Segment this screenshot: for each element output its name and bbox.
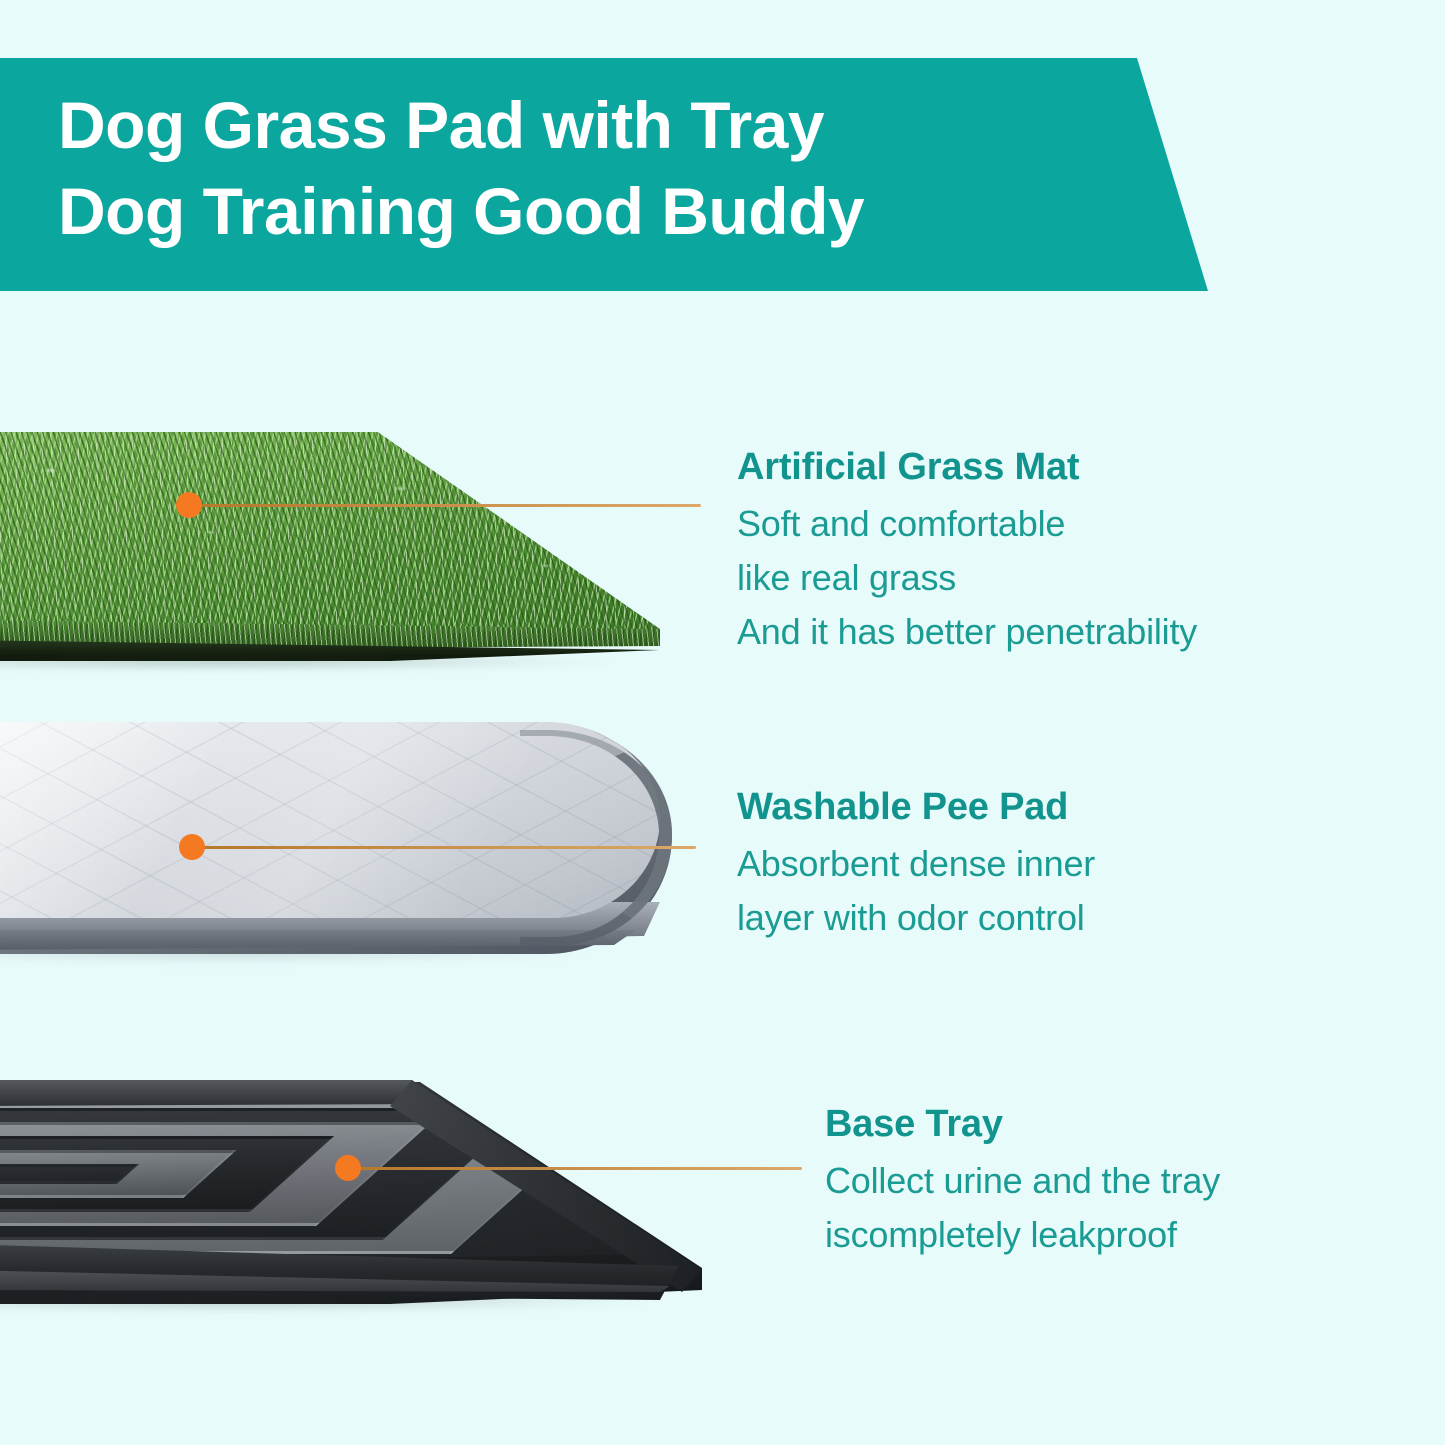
- callout-washable-pee-pad: Washable Pee Pad Absorbent dense inner l…: [737, 783, 1427, 945]
- base-tray-shadow: [0, 1294, 660, 1310]
- pee-pad-shadow: [0, 946, 600, 962]
- callout-dot-grass-mat: [176, 492, 202, 518]
- callout-artificial-grass-mat: Artificial Grass Mat Soft and comfortabl…: [737, 443, 1427, 659]
- leader-line-grass-mat: [193, 504, 701, 507]
- callout-body-grass-mat: Soft and comfortable like real grass And…: [737, 497, 1427, 659]
- callout-heading-grass-mat: Artificial Grass Mat: [737, 443, 1427, 491]
- callout-heading-pee-pad: Washable Pee Pad: [737, 783, 1427, 831]
- callout-base-tray: Base Tray Collect urine and the tray isc…: [825, 1100, 1445, 1262]
- tray-ridge-6: [0, 1164, 139, 1184]
- grass-mat-slab: [0, 424, 720, 682]
- leader-line-base-tray: [352, 1167, 802, 1170]
- callout-body-base-tray: Collect urine and the tray iscompletely …: [825, 1154, 1445, 1262]
- leader-line-pee-pad: [196, 846, 696, 849]
- callout-heading-base-tray: Base Tray: [825, 1100, 1445, 1148]
- callout-dot-base-tray: [335, 1155, 361, 1181]
- callout-dot-pee-pad: [179, 834, 205, 860]
- banner-title: Dog Grass Pad with Tray Dog Training Goo…: [58, 82, 1148, 254]
- callout-body-pee-pad: Absorbent dense inner layer with odor co…: [737, 837, 1427, 945]
- washable-pee-pad-image: [0, 716, 720, 972]
- product-infographic: Dog Grass Pad with Tray Dog Training Goo…: [0, 0, 1445, 1445]
- grass-mat-shadow: [0, 656, 620, 670]
- artificial-grass-mat-image: [0, 424, 720, 682]
